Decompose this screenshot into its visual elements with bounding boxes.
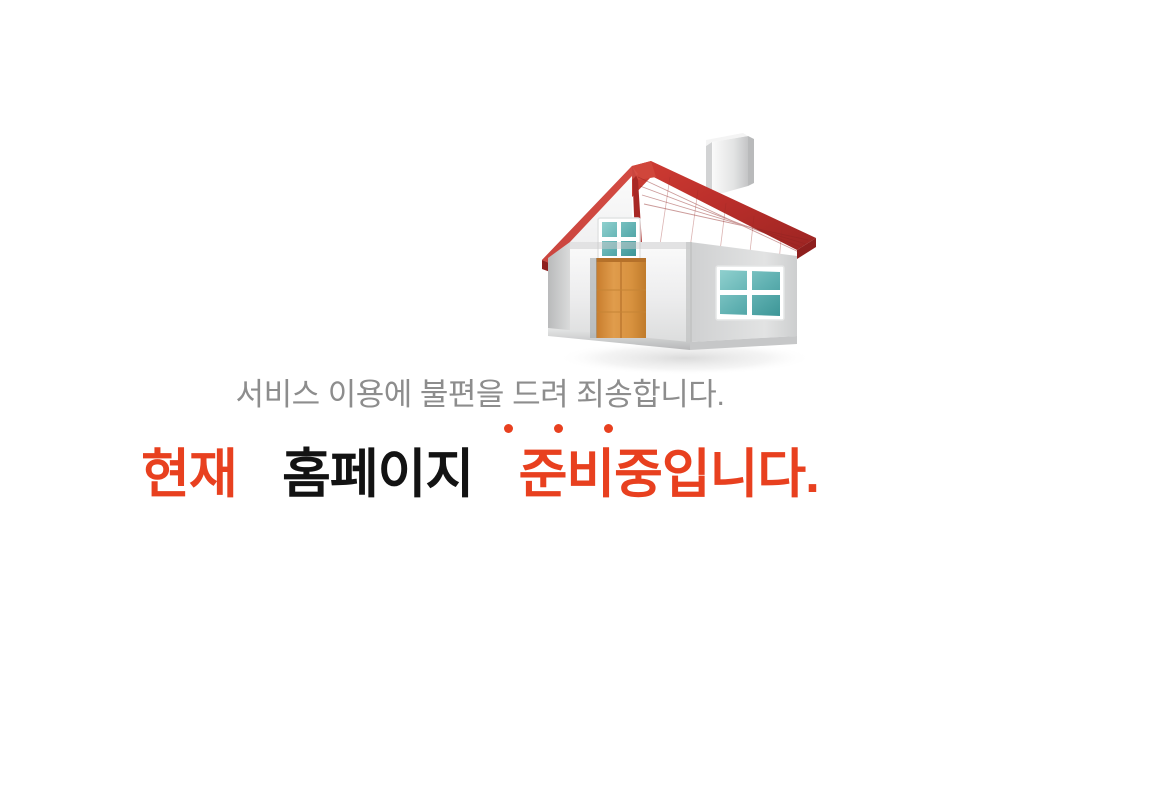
emphasis-dot-3 xyxy=(604,424,613,433)
wall-corner-shadow xyxy=(686,242,692,342)
wall-left-return xyxy=(548,242,570,336)
attic-window xyxy=(598,218,640,260)
house-graphic xyxy=(520,130,840,375)
emphasis-dot-1 xyxy=(504,424,513,433)
side-window xyxy=(716,266,784,320)
emphasis-dot-2 xyxy=(554,424,563,433)
headline-segment-current: 현재 xyxy=(141,445,237,504)
headline-segment-preparing: 준비중입니다. xyxy=(519,445,819,504)
chimney xyxy=(706,133,754,196)
emphasis-dots xyxy=(0,424,960,438)
headline-segment-homepage: 홈페이지 xyxy=(282,445,473,504)
apology-text: 서비스 이용에 불편을 드려 죄송합니다. xyxy=(0,372,960,418)
eave-shadow xyxy=(570,242,690,249)
page-root: 서비스 이용에 불편을 드려 죄송합니다. 현재 홈페이지 준비중입니다. xyxy=(0,0,1155,799)
headline: 현재 홈페이지 준비중입니다. xyxy=(0,444,960,506)
message-block: 서비스 이용에 불편을 드려 죄송합니다. 현재 홈페이지 준비중입니다. xyxy=(0,372,960,506)
house-illustration xyxy=(520,130,840,375)
headline-wrapper: 현재 홈페이지 준비중입니다. xyxy=(0,444,960,506)
front-door xyxy=(590,258,646,338)
